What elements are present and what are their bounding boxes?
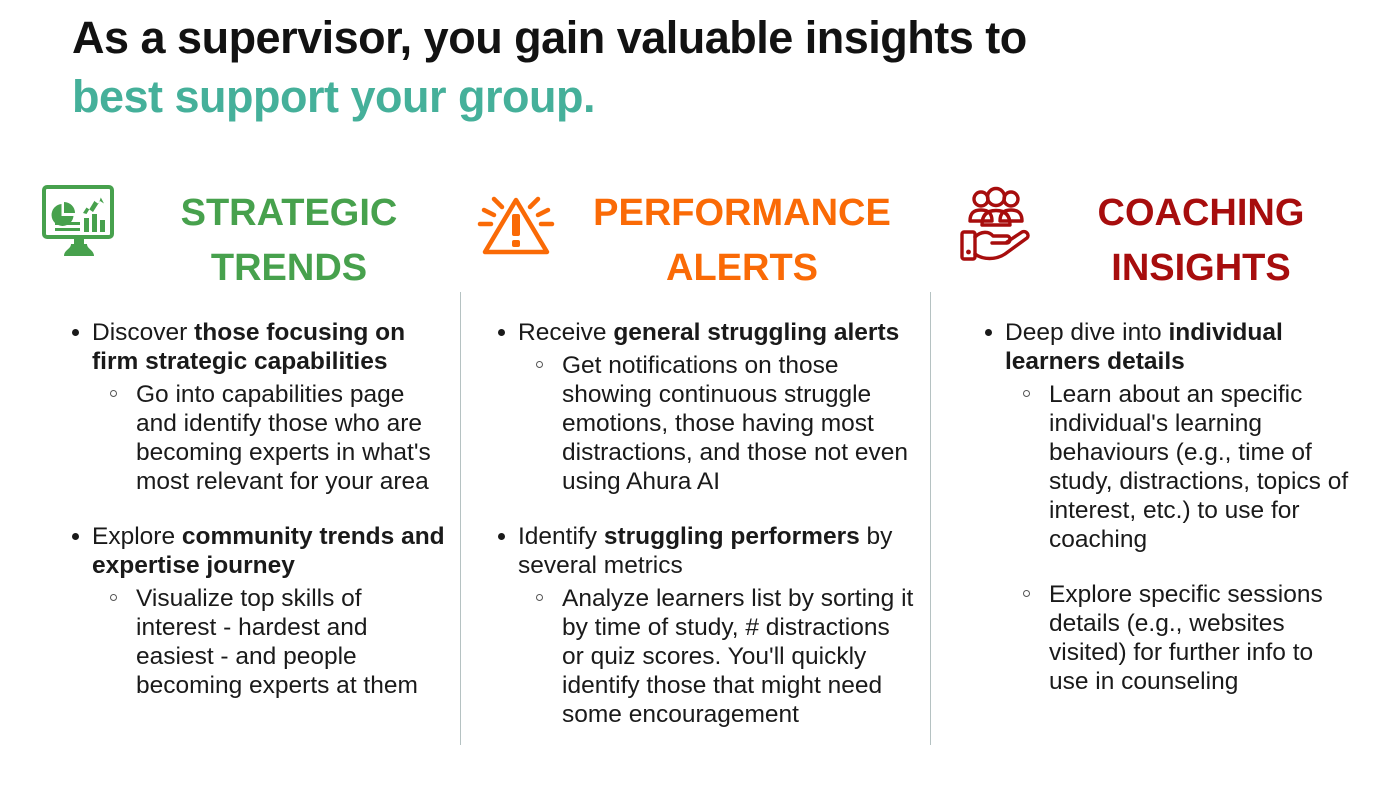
bullet-item: Discover those focusing on firm strategi… [64, 318, 448, 376]
sub-bullet-item: Analyze learners list by sorting it by t… [490, 584, 916, 729]
column-title-line-1: STRATEGIC [130, 186, 448, 241]
bullet-lead: Receive [518, 319, 613, 346]
column-title-line-1: COACHING [1047, 186, 1355, 241]
sub-bullet-item: Go into capabilities page and identify t… [64, 380, 448, 496]
sub-bullet-item: Visualize top skills of interest - harde… [64, 584, 448, 700]
column-title-line-1: PERFORMANCE [568, 186, 916, 241]
column-body: Discover those focusing on firm strategi… [40, 318, 448, 700]
column-strategic-trends: STRATEGIC TRENDS Discover those focusing… [40, 182, 448, 700]
bullet-emphasis: general struggling alerts [613, 319, 899, 346]
title-line-2: best support your group. [72, 67, 1322, 126]
title-line-1: As a supervisor, you gain valuable insig… [72, 8, 1322, 67]
bullet-group: Discover those focusing on firm strategi… [64, 318, 448, 496]
bullet-group: Explore community trends and expertise j… [64, 522, 448, 700]
column-header: STRATEGIC TRENDS [40, 182, 448, 296]
bullet-lead: Explore [92, 523, 182, 550]
bullet-emphasis: struggling performers [604, 523, 860, 550]
column-coaching-insights: COACHING INSIGHTS Deep dive into individ… [955, 182, 1355, 696]
column-title-line-2: TRENDS [130, 241, 448, 296]
column-title-line-2: INSIGHTS [1047, 241, 1355, 296]
bullet-lead: Deep dive into [1005, 319, 1168, 346]
bullet-group: Explore specific sessions details (e.g.,… [977, 580, 1355, 696]
sub-bullet-item: Explore specific sessions details (e.g.,… [977, 580, 1355, 696]
hand-holding-people-icon [955, 182, 1035, 264]
bullet-lead: Discover [92, 319, 194, 346]
bullet-group: Identify struggling performers by severa… [490, 522, 916, 729]
column-title: STRATEGIC TRENDS [130, 182, 448, 296]
bullet-lead: Identify [518, 523, 604, 550]
warning-triangle-icon [472, 182, 556, 264]
bullet-group: Receive general struggling alerts Get no… [490, 318, 916, 496]
column-header: PERFORMANCE ALERTS [472, 182, 916, 296]
page-title: As a supervisor, you gain valuable insig… [72, 8, 1322, 126]
column-divider-2 [930, 292, 931, 745]
column-body: Deep dive into individual learners detai… [955, 318, 1355, 696]
sub-bullet-item: Get notifications on those showing conti… [490, 351, 916, 496]
bullet-item: Explore community trends and expertise j… [64, 522, 448, 580]
slide: As a supervisor, you gain valuable insig… [0, 0, 1397, 785]
bullet-item: Receive general struggling alerts [490, 318, 916, 347]
column-title: COACHING INSIGHTS [1047, 182, 1355, 296]
bullet-item: Deep dive into individual learners detai… [977, 318, 1355, 376]
column-title-line-2: ALERTS [568, 241, 916, 296]
column-title: PERFORMANCE ALERTS [568, 182, 916, 296]
column-body: Receive general struggling alerts Get no… [472, 318, 916, 729]
column-performance-alerts: PERFORMANCE ALERTS Receive general strug… [472, 182, 916, 729]
monitor-analytics-icon [40, 182, 118, 264]
bullet-group: Deep dive into individual learners detai… [977, 318, 1355, 554]
column-divider-1 [460, 292, 461, 745]
sub-bullet-item: Learn about an specific individual's lea… [977, 380, 1355, 554]
bullet-item: Identify struggling performers by severa… [490, 522, 916, 580]
column-header: COACHING INSIGHTS [955, 182, 1355, 296]
